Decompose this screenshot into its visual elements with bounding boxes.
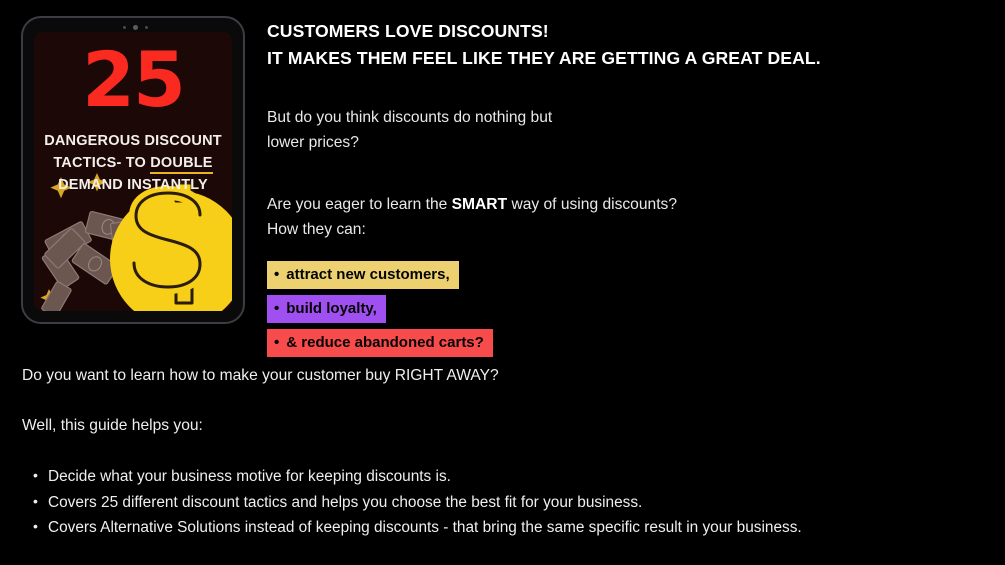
paragraph-2-line-2: How they can: <box>267 218 987 243</box>
highlight-chip-label: attract new customers, <box>286 266 449 283</box>
cover-title-underlined-word: DOUBLE <box>150 155 212 174</box>
camera-lens-icon <box>133 25 138 30</box>
highlighted-benefit-list: •attract new customers, •build loyalty, … <box>267 261 987 357</box>
cover-title-line-2: TACTICS- TO DOUBLE <box>34 152 232 174</box>
cover-number: 25 <box>34 40 232 120</box>
benefit-text: Covers 25 different discount tactics and… <box>48 494 642 511</box>
bullet-icon: • <box>274 267 279 283</box>
sensor-dot-left <box>123 26 126 29</box>
lead-in-text: Well, this guide helps you: <box>22 414 1005 438</box>
ebook-cover: 25 DANGEROUS DISCOUNT TACTICS- TO DOUBLE… <box>34 32 232 311</box>
closing-question: Do you want to learn how to make your cu… <box>22 364 1005 388</box>
cover-title-line-3: DEMAND INSTANTLY <box>34 174 232 196</box>
paragraph-2-emphasis: SMART <box>452 196 507 213</box>
paragraph-2-post: way of using discounts? <box>507 196 677 213</box>
paragraph-1: But do you think discounts do nothing bu… <box>267 106 987 155</box>
list-item: •Covers Alternative Solutions instead of… <box>48 515 1005 541</box>
camera-sensor-dots-icon <box>23 24 247 31</box>
bullet-icon: • <box>274 335 279 351</box>
cover-title: DANGEROUS DISCOUNT TACTICS- TO DOUBLE DE… <box>34 130 232 196</box>
cover-title-line-1: DANGEROUS DISCOUNT <box>34 130 232 152</box>
bottom-section: Do you want to learn how to make your cu… <box>0 350 1005 541</box>
paragraph-2-line-1: Are you eager to learn the SMART way of … <box>267 193 987 218</box>
benefits-list: •Decide what your business motive for ke… <box>0 464 1005 541</box>
paragraph-1-line-2: lower prices? <box>267 131 987 156</box>
sensor-dot-right <box>145 26 148 29</box>
paragraph-1-line-1: But do you think discounts do nothing bu… <box>267 106 987 131</box>
list-item: •build loyalty, <box>267 295 987 323</box>
headline-line-2: IT MAKES THEM FEEL LIKE THEY ARE GETTING… <box>267 45 987 72</box>
copy-block: CUSTOMERS LOVE DISCOUNTS! IT MAKES THEM … <box>267 18 987 363</box>
tablet-device-mockup: 25 DANGEROUS DISCOUNT TACTICS- TO DOUBLE… <box>21 16 245 324</box>
highlight-chip-loyalty: •build loyalty, <box>267 295 386 323</box>
list-item: •Decide what your business motive for ke… <box>48 464 1005 490</box>
promo-page: 25 DANGEROUS DISCOUNT TACTICS- TO DOUBLE… <box>0 0 1005 565</box>
headline-line-1: CUSTOMERS LOVE DISCOUNTS! <box>267 18 987 45</box>
bullet-icon: • <box>33 489 38 515</box>
bullet-icon: • <box>33 514 38 540</box>
list-item: •attract new customers, <box>267 261 987 289</box>
dollar-sign-icon <box>114 179 226 307</box>
top-section: 25 DANGEROUS DISCOUNT TACTICS- TO DOUBLE… <box>0 0 1005 345</box>
paragraph-2: Are you eager to learn the SMART way of … <box>267 193 987 242</box>
bullet-icon: • <box>33 463 38 489</box>
headline: CUSTOMERS LOVE DISCOUNTS! IT MAKES THEM … <box>267 18 987 72</box>
highlight-chip-attract: •attract new customers, <box>267 261 459 289</box>
cover-title-line-2-pre: TACTICS- TO <box>53 155 150 171</box>
benefit-text: Decide what your business motive for kee… <box>48 468 451 485</box>
highlight-chip-label: & reduce abandoned carts? <box>286 334 484 351</box>
list-item: •Covers 25 different discount tactics an… <box>48 490 1005 516</box>
benefit-text: Covers Alternative Solutions instead of … <box>48 519 802 536</box>
highlight-chip-label: build loyalty, <box>286 300 377 317</box>
bullet-icon: • <box>274 301 279 317</box>
paragraph-2-pre: Are you eager to learn the <box>267 196 452 213</box>
